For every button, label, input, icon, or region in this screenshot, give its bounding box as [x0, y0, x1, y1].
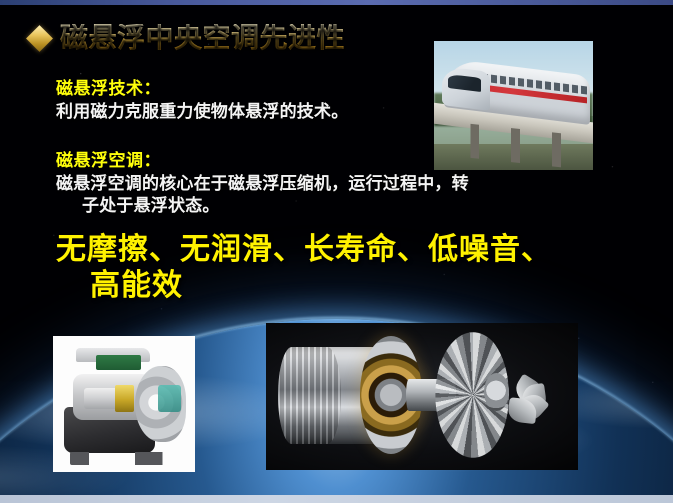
- slide-title-row: 磁悬浮中央空调先进性: [30, 24, 345, 52]
- section-text-maglev-hvac-line1: 磁悬浮空调的核心在于磁悬浮压缩机，运行过程中，转: [56, 173, 622, 196]
- bottom-chrome-bar: [0, 495, 673, 503]
- magnetic-bearing-compressor-cutaway: [53, 336, 195, 472]
- magnetic-bearing-rotor-render: [266, 323, 578, 470]
- diamond-bullet-icon: [26, 25, 53, 52]
- benefits-headline: 无摩擦、无润滑、长寿命、低噪音、 高能效: [56, 232, 622, 303]
- benefits-headline-line1: 无摩擦、无润滑、长寿命、低噪音、: [56, 232, 622, 267]
- compressor-mounting-feet: [70, 452, 175, 466]
- top-chrome-bar: [0, 0, 673, 5]
- page-title: 磁悬浮中央空调先进性: [60, 24, 345, 52]
- rotor-stack-rings: [278, 347, 340, 444]
- compressor-control-board: [96, 355, 141, 370]
- benefits-headline-line2: 高能效: [56, 268, 622, 303]
- section-text-indent: 子处于悬浮状态。: [56, 195, 622, 218]
- compressor-coil: [115, 385, 133, 412]
- presentation-slide: 磁悬浮中央空调先进性 磁悬浮技术： 利用磁力克服重力使物体悬浮的技术。 磁悬浮空…: [0, 0, 673, 503]
- section-text-maglev-hvac-line2: 子处于悬浮状态。: [56, 195, 622, 218]
- rotor-fan-blades: [503, 347, 559, 441]
- compressor-inlet-port: [158, 385, 181, 412]
- maglev-train-photo: [434, 41, 593, 170]
